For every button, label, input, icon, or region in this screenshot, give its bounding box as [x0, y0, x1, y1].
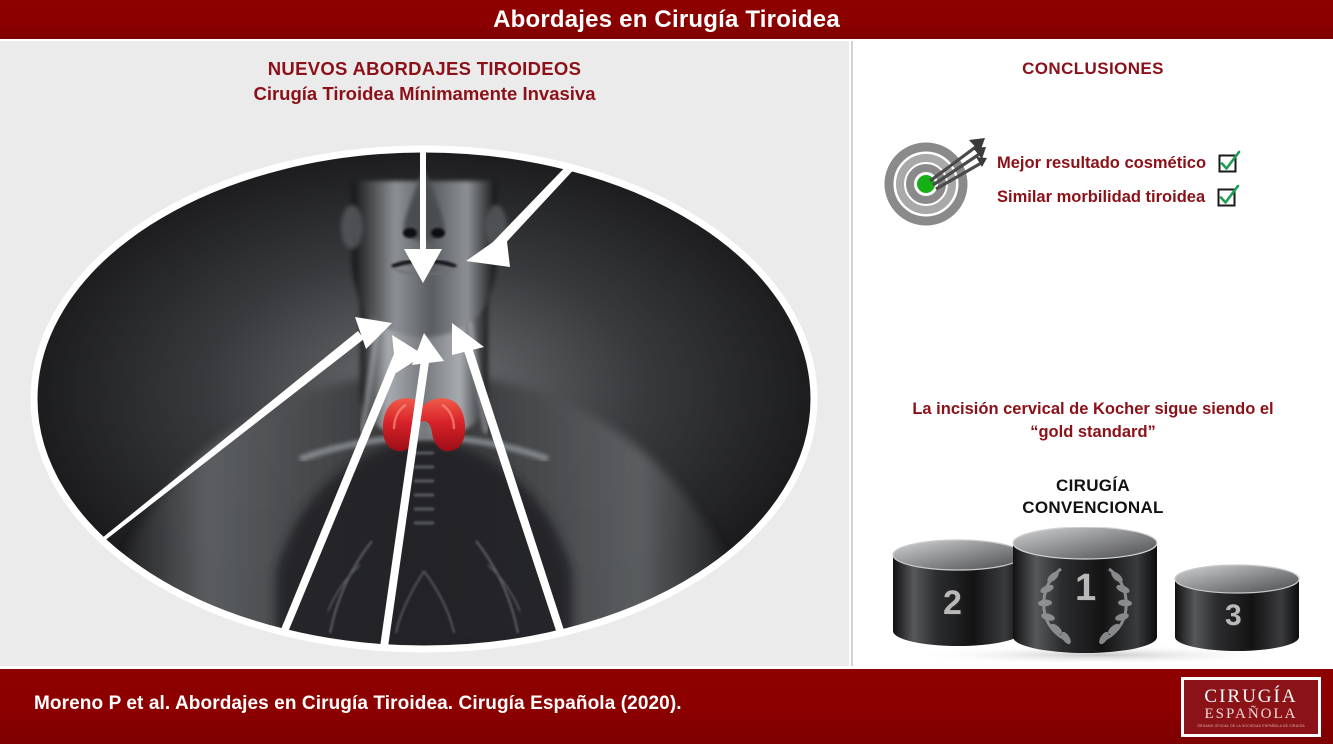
logo-line-cirugia: CIRUGÍA — [1204, 687, 1297, 706]
conclusions-heading: CONCLUSIONES — [853, 59, 1333, 79]
checkbox-checked-icon — [1218, 153, 1238, 173]
kocher-statement: La incisión cervical de Kocher sigue sie… — [873, 398, 1313, 445]
target-bullseye-icon — [881, 136, 987, 228]
left-heading-line1: NUEVOS ABORDAJES TIROIDEOS — [0, 57, 849, 82]
anatomy-xray-image — [0, 141, 849, 661]
logo-line-espanola: ESPAÑOLA — [1205, 706, 1298, 723]
slide-title-bar: Abordajes en Cirugía Tiroidea — [0, 0, 1333, 39]
podium-rank-1: 1 — [1075, 567, 1096, 610]
list-item: Mejor resultado cosmético — [997, 153, 1333, 173]
podium-rank-3: 3 — [1225, 599, 1242, 633]
bullet-text-cosmetic: Mejor resultado cosmético — [997, 154, 1206, 173]
winners-podium: 2 1 3 — [883, 527, 1313, 662]
podium-caption-line2: CONVENCIONAL — [893, 497, 1293, 519]
podium-rank-2: 2 — [943, 584, 962, 623]
kocher-line1: La incisión cervical de Kocher sigue sie… — [873, 398, 1313, 421]
footer-bar: Moreno P et al. Abordajes en Cirugía Tir… — [0, 669, 1333, 744]
right-panel: CONCLUSIONES — [853, 41, 1333, 666]
logo-subtitle: ÓRGANO OFICIAL DE LA SOCIEDAD ESPAÑOLA D… — [1197, 725, 1305, 729]
page-title: Abordajes en Cirugía Tiroidea — [493, 8, 840, 32]
bullet-text-morbidity: Similar morbilidad tiroidea — [997, 188, 1205, 207]
citation-text: Moreno P et al. Abordajes en Cirugía Tir… — [34, 693, 682, 715]
thyroid-anatomy-figure — [0, 141, 849, 661]
conclusion-bullet-list: Mejor resultado cosmético Similar morbil… — [987, 153, 1333, 211]
left-heading-line2: Cirugía Tiroidea Mínimamente Invasiva — [0, 82, 849, 107]
left-panel: NUEVOS ABORDAJES TIROIDEOS Cirugía Tiroi… — [0, 41, 849, 666]
conclusions-block: Mejor resultado cosmético Similar morbil… — [881, 136, 1333, 228]
kocher-line2: “gold standard” — [873, 421, 1313, 444]
slide-body: NUEVOS ABORDAJES TIROIDEOS Cirugía Tiroi… — [0, 41, 1333, 666]
left-panel-heading: NUEVOS ABORDAJES TIROIDEOS Cirugía Tiroi… — [0, 57, 849, 107]
checkbox-checked-icon — [1217, 187, 1237, 207]
podium-caption: CIRUGÍA CONVENCIONAL — [893, 475, 1293, 519]
journal-logo: CIRUGÍA ESPAÑOLA ÓRGANO OFICIAL DE LA SO… — [1181, 677, 1321, 737]
list-item: Similar morbilidad tiroidea — [997, 187, 1333, 207]
podium-caption-line1: CIRUGÍA — [893, 475, 1293, 497]
